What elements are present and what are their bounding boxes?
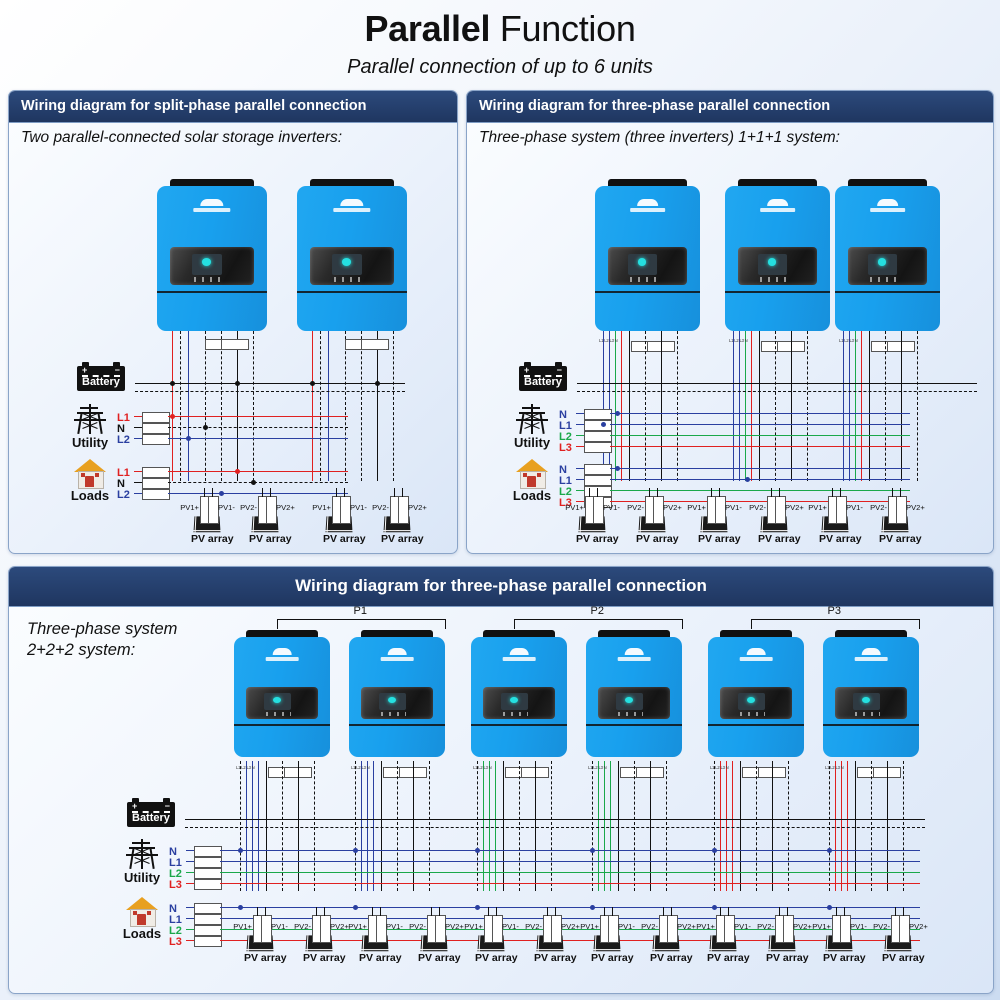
phase-bus-2-2 xyxy=(855,331,856,481)
pv-lead-right xyxy=(779,488,780,497)
dc-bus-2-0 xyxy=(869,331,870,481)
battery-polarity: +− xyxy=(132,803,170,810)
battery-bus-negative xyxy=(185,827,925,828)
battery-icon: +−Battery xyxy=(77,366,125,391)
pv-terminal-label-left: PV2- xyxy=(748,922,774,931)
utility-tower-icon xyxy=(515,404,549,434)
loads-terminal-lead xyxy=(134,493,142,494)
utility-N-junction-3 xyxy=(590,848,595,853)
inverter-seam xyxy=(823,724,919,726)
pv-lead-left xyxy=(336,488,337,497)
pv-array-label: PV array xyxy=(381,533,413,545)
phase-bus-0-2 xyxy=(615,331,616,481)
brand-wordmark xyxy=(333,208,370,212)
bus-line-1 xyxy=(180,331,181,481)
utility-terminal-out xyxy=(220,883,920,884)
loads-terminal-lead xyxy=(576,501,584,502)
utility-terminal-breaker[interactable] xyxy=(584,431,612,442)
utility-N-junction-1 xyxy=(353,848,358,853)
utility-terminal-lead xyxy=(134,427,142,428)
brand-wordmark xyxy=(503,657,536,661)
inverter-unit-1[interactable] xyxy=(234,637,330,757)
house-icon xyxy=(74,459,106,487)
battery-minus: − xyxy=(115,367,120,374)
inverter-port-label: L1 L2 L3 N xyxy=(729,338,748,343)
utility-terminal-breaker[interactable] xyxy=(194,879,222,890)
utility-L2-junction xyxy=(186,436,191,441)
sun-logo-icon xyxy=(624,648,644,655)
panel-three-phase-222: Wiring diagram for three-phase parallel … xyxy=(8,566,994,994)
inverter-lcd-display[interactable] xyxy=(246,687,319,718)
loads-icon: Loads xyxy=(509,459,555,503)
lcd-buttons[interactable] xyxy=(381,712,406,716)
inverter-seam xyxy=(157,291,267,293)
pv-terminal-label-left: PV1+ xyxy=(573,922,599,931)
pv-terminal-label-left: PV1+ xyxy=(457,922,483,931)
utility-terminal-breaker[interactable] xyxy=(584,442,612,453)
battery-polarity: +− xyxy=(82,367,120,374)
battery-label: Battery xyxy=(524,377,562,389)
utility-terminal-breaker[interactable] xyxy=(142,434,170,445)
brand-wordmark xyxy=(630,208,666,212)
ac-breaker[interactable] xyxy=(221,339,249,350)
loads-terminal-out xyxy=(168,471,348,472)
pv-terminal-label-left: PV1+ xyxy=(341,922,367,931)
pv-lead-right xyxy=(844,907,845,916)
loads-N-junction-4 xyxy=(712,905,717,910)
pv-lead-left xyxy=(372,907,373,916)
loads-terminal-out xyxy=(220,907,920,908)
utility-terminal-out xyxy=(220,872,920,873)
brand-logo xyxy=(503,648,536,661)
utility-terminal-breaker[interactable] xyxy=(194,846,222,857)
battery-terminal-negative xyxy=(163,798,170,802)
loads-terminal-breaker[interactable] xyxy=(142,467,170,478)
inverter-lcd-display[interactable] xyxy=(361,687,434,718)
group-label: P3 xyxy=(828,605,841,617)
inverter-unit-1[interactable] xyxy=(595,186,700,331)
utility-label: Utility xyxy=(119,870,165,885)
battery-bus-positive xyxy=(185,819,925,820)
utility-terminal-label-L3: L3 xyxy=(559,442,572,454)
pv-lead-left xyxy=(394,488,395,497)
loads-terminal-out xyxy=(168,482,348,483)
utility-icon: Utility xyxy=(67,404,113,450)
loads-N-junction-3 xyxy=(590,905,595,910)
utility-terminal-lead xyxy=(186,861,194,862)
pv-lead-left xyxy=(262,488,263,497)
battery-bus-negative xyxy=(135,391,405,392)
loads-label: Loads xyxy=(67,488,113,503)
page-title: Parallel Function xyxy=(0,8,1000,50)
pv-lead-right xyxy=(903,907,904,916)
inverter-seam xyxy=(471,724,567,726)
pv-terminal-label-left: PV2- xyxy=(363,503,389,512)
sun-logo-icon xyxy=(746,648,766,655)
dc-bus-1-1 xyxy=(775,331,776,481)
inverter-port-label: L1 L2 L3 N xyxy=(473,765,492,770)
lcd-buttons[interactable] xyxy=(630,277,657,282)
pv-terminal-label-left: PV1+ xyxy=(805,922,831,931)
pv-lead-left xyxy=(547,907,548,916)
dc-bus-0-2 xyxy=(661,331,662,481)
pv-terminal-label-left: PV2- xyxy=(400,922,426,931)
sun-logo-icon xyxy=(201,199,223,206)
group-label: P2 xyxy=(591,605,604,617)
lcd-screen xyxy=(853,693,879,710)
sun-logo-icon xyxy=(509,648,529,655)
inverter-seam xyxy=(234,724,330,726)
loads-terminal-breaker[interactable] xyxy=(142,489,170,500)
battery-plus: + xyxy=(82,367,87,374)
utility-N-junction xyxy=(615,411,620,416)
brand-wordmark xyxy=(381,657,414,661)
phase-bus-2-0 xyxy=(843,331,844,481)
utility-terminal-label-L3: L3 xyxy=(169,879,182,891)
lcd-buttons[interactable] xyxy=(618,712,643,716)
utility-N-junction-0 xyxy=(238,848,243,853)
utility-N-junction-2 xyxy=(475,848,480,853)
battery-junction-2 xyxy=(310,381,315,386)
utility-terminal-breaker[interactable] xyxy=(584,420,612,431)
pv-lead-left xyxy=(316,907,317,916)
loads-terminal-lead xyxy=(186,918,194,919)
pv-lead-right xyxy=(270,488,271,497)
bus-line-12 xyxy=(377,331,378,481)
bus-line-7 xyxy=(312,331,313,481)
pv-lead-right xyxy=(719,488,720,497)
loads-label: Loads xyxy=(119,926,165,941)
pv-lead-left xyxy=(832,488,833,497)
pv-lead-left xyxy=(257,907,258,916)
utility-icon: Utility xyxy=(119,839,165,885)
loads-terminal-out xyxy=(168,493,348,494)
utility-terminal-out xyxy=(220,850,920,851)
pv-terminal-label-left: PV1+ xyxy=(801,503,827,512)
sun-logo-icon xyxy=(637,199,658,206)
inverter-lcd-display[interactable] xyxy=(738,247,818,285)
pv-lead-right xyxy=(344,488,345,497)
phase-bus-1-2 xyxy=(745,331,746,481)
battery-polarity: +− xyxy=(524,367,562,374)
utility-terminal-breaker[interactable] xyxy=(194,857,222,868)
pv-lead-right xyxy=(402,488,403,497)
inverter-port-label: L1 L2 L3 N xyxy=(351,765,370,770)
lcd-screen xyxy=(501,693,527,710)
pv-array-label: PV array xyxy=(303,952,335,964)
loads-terminal-lead xyxy=(186,907,194,908)
pv-lead-left xyxy=(779,907,780,916)
pv-array-label: PV array xyxy=(879,533,911,545)
brand-logo xyxy=(630,199,666,212)
pv-terminal-label-left: PV2- xyxy=(516,922,542,931)
loads-N-junction-5 xyxy=(827,905,832,910)
utility-terminal-out xyxy=(610,413,910,414)
utility-terminal-breaker[interactable] xyxy=(142,412,170,423)
lcd-screen xyxy=(616,693,642,710)
pv-lead-right xyxy=(265,907,266,916)
utility-label: Utility xyxy=(67,435,113,450)
house-icon xyxy=(126,897,158,925)
loads-icon: Loads xyxy=(67,459,113,503)
house-window-right xyxy=(537,473,541,477)
loads-terminal-breaker[interactable] xyxy=(142,478,170,489)
brand-wordmark xyxy=(193,208,230,212)
lcd-screen xyxy=(738,693,764,710)
pv-array-label: PV array xyxy=(636,533,668,545)
inverter-unit-6[interactable] xyxy=(823,637,919,757)
utility-terminal-lead xyxy=(576,435,584,436)
brand-wordmark xyxy=(618,657,651,661)
pv-array-label: PV array xyxy=(707,952,739,964)
page-title-rest: Function xyxy=(490,8,635,49)
lcd-screen xyxy=(628,254,657,275)
panel-three-phase-111: Wiring diagram for three-phase parallel … xyxy=(466,90,994,554)
pv-lead-right xyxy=(555,907,556,916)
brand-logo xyxy=(760,199,796,212)
loads-terminal-out xyxy=(610,490,910,491)
pv-lead-right xyxy=(597,488,598,497)
lcd-screen xyxy=(332,254,362,275)
brand-logo xyxy=(870,199,906,212)
utility-N-junction xyxy=(203,425,208,430)
utility-N-junction-5 xyxy=(827,848,832,853)
dc-bus-1-2 xyxy=(791,331,792,481)
phase-bus-1-3 xyxy=(751,331,752,481)
inverter-lcd-display[interactable] xyxy=(835,687,908,718)
loads-terminal-breaker[interactable] xyxy=(194,936,222,947)
pv-lead-left xyxy=(895,907,896,916)
house-window-right xyxy=(147,911,151,915)
pv-terminal-label-left: PV2- xyxy=(231,503,257,512)
utility-terminal-breaker[interactable] xyxy=(194,868,222,879)
lcd-buttons[interactable] xyxy=(194,277,222,282)
inverter-lcd-display[interactable] xyxy=(310,247,394,285)
lcd-buttons[interactable] xyxy=(740,712,765,716)
battery-icon: +−Battery xyxy=(127,802,175,827)
pv-terminal-label-right: PV2+ xyxy=(408,503,427,512)
inverter-seam xyxy=(297,291,407,293)
sun-logo-icon xyxy=(387,648,407,655)
battery-junction-0 xyxy=(170,381,175,386)
house-door xyxy=(527,476,536,487)
pv-lead-right xyxy=(900,488,901,497)
dc-bus-0-3 xyxy=(677,331,678,481)
inverter-lcd-display[interactable] xyxy=(483,687,556,718)
pv-lead-left xyxy=(663,907,664,916)
inverter-port-label: L1 L2 L3 N xyxy=(839,338,858,343)
house-door xyxy=(137,914,146,925)
pv-terminal-label-right: PV2+ xyxy=(276,503,295,512)
ac-breaker[interactable] xyxy=(361,339,389,350)
page-title-bold: Parallel xyxy=(364,8,490,49)
pv-lead-left xyxy=(604,907,605,916)
battery-terminal-negative xyxy=(113,362,120,366)
loads-label: Loads xyxy=(509,488,555,503)
lcd-screen xyxy=(264,693,290,710)
battery-icon: +−Battery xyxy=(519,366,567,391)
utility-terminal-breaker[interactable] xyxy=(142,423,170,434)
bus-line-10 xyxy=(345,331,346,481)
battery-minus: − xyxy=(557,367,562,374)
pv-terminal-label-left: PV1+ xyxy=(558,503,584,512)
loads-terminal-label-L2: L2 xyxy=(117,489,130,501)
brand-logo xyxy=(193,199,230,212)
loads-terminal-breaker[interactable] xyxy=(194,914,222,925)
pv-lead-right xyxy=(380,907,381,916)
brand-wordmark xyxy=(760,208,796,212)
sun-logo-icon xyxy=(341,199,363,206)
lcd-buttons[interactable] xyxy=(855,712,880,716)
inverter-port-label: L1 L2 L3 N xyxy=(710,765,729,770)
pv-lead-left xyxy=(488,907,489,916)
pv-lead-right xyxy=(324,907,325,916)
pv-array-label: PV array xyxy=(191,533,223,545)
phase-bus-1-1 xyxy=(739,331,740,481)
loads-L1-junction xyxy=(235,469,240,474)
lcd-screen xyxy=(379,693,405,710)
pv-terminal-label-left: PV2- xyxy=(864,922,890,931)
battery-terminal-positive xyxy=(132,798,139,802)
inverter-lcd-display[interactable] xyxy=(848,247,928,285)
battery-junction-1 xyxy=(235,381,240,386)
pv-lead-left xyxy=(431,907,432,916)
battery-terminal-negative xyxy=(555,362,562,366)
utility-N-junction-4 xyxy=(712,848,717,853)
brand-logo xyxy=(855,648,888,661)
inverter-unit-2[interactable] xyxy=(725,186,830,331)
inverter-lcd-display[interactable] xyxy=(720,687,793,718)
pv-array-label: PV array xyxy=(823,952,855,964)
pv-array-label: PV array xyxy=(534,952,566,964)
bus-line-11 xyxy=(361,331,362,481)
inverter-unit-2[interactable] xyxy=(349,637,445,757)
bus-line-4 xyxy=(221,331,222,481)
brand-logo xyxy=(618,648,651,661)
bus-line-0 xyxy=(172,331,173,481)
loads-terminal-lead xyxy=(134,471,142,472)
inverter-lcd-display[interactable] xyxy=(598,687,671,718)
brand-logo xyxy=(740,648,773,661)
lcd-screen xyxy=(868,254,897,275)
utility-terminal-out xyxy=(610,435,910,436)
pv-array-label: PV array xyxy=(591,952,623,964)
pv-lead-right xyxy=(787,907,788,916)
dc-bus-2-2 xyxy=(901,331,902,481)
sun-logo-icon xyxy=(877,199,898,206)
battery-bus-negative xyxy=(577,391,977,392)
pv-terminal-label-left: PV2- xyxy=(740,503,766,512)
battery-label: Battery xyxy=(82,377,120,389)
pv-terminal-label-left: PV2- xyxy=(632,922,658,931)
battery-plus: + xyxy=(132,803,137,810)
phase-bus-0-0 xyxy=(603,331,604,481)
sun-logo-icon xyxy=(272,648,292,655)
pv-terminal-label-left: PV1+ xyxy=(305,503,331,512)
lcd-buttons[interactable] xyxy=(503,712,528,716)
bus-line-2 xyxy=(188,331,189,481)
loads-icon: Loads xyxy=(119,897,165,941)
utility-terminal-out xyxy=(610,446,910,447)
inverter-unit-3[interactable] xyxy=(835,186,940,331)
group-bracket-2 xyxy=(514,619,683,629)
inverter-port-label: L1 L2 L3 N xyxy=(588,765,607,770)
utility-terminal-out xyxy=(168,438,348,439)
pv-array-label: PV array xyxy=(819,533,851,545)
pv-terminal-label-left: PV1+ xyxy=(173,503,199,512)
inverter-unit-2[interactable] xyxy=(297,186,407,331)
pv-lead-right xyxy=(840,488,841,497)
loads-terminal-lead xyxy=(186,940,194,941)
pv-lead-right xyxy=(612,907,613,916)
pv-terminal-label-left: PV1+ xyxy=(680,503,706,512)
inverter-lcd-display[interactable] xyxy=(608,247,688,285)
inverter-unit-1[interactable] xyxy=(157,186,267,331)
lcd-buttons[interactable] xyxy=(870,277,897,282)
lcd-buttons[interactable] xyxy=(760,277,787,282)
bus-line-9 xyxy=(328,331,329,481)
battery-minus: − xyxy=(165,803,170,810)
utility-icon: Utility xyxy=(509,404,555,450)
loads-terminal-lead xyxy=(576,490,584,491)
lcd-screen xyxy=(758,254,787,275)
inverter-unit-5[interactable] xyxy=(708,637,804,757)
loads-terminal-breaker[interactable] xyxy=(584,475,612,486)
group-bracket-1 xyxy=(277,619,446,629)
pv-array-label: PV array xyxy=(698,533,730,545)
pv-lead-left xyxy=(204,488,205,497)
utility-L1-junction xyxy=(601,422,606,427)
utility-terminal-lead xyxy=(186,883,194,884)
dc-bus-1-3 xyxy=(807,331,808,481)
pv-array-label: PV array xyxy=(576,533,608,545)
pv-terminal-label-right: PV2+ xyxy=(906,503,925,512)
dc-bus-0-1 xyxy=(645,331,646,481)
pv-lead-right xyxy=(728,907,729,916)
inverter-seam xyxy=(586,724,682,726)
utility-terminal-out xyxy=(168,427,348,428)
utility-terminal-breaker[interactable] xyxy=(584,409,612,420)
loads-terminal-breaker[interactable] xyxy=(584,464,612,475)
loads-L1-junction xyxy=(745,477,750,482)
brand-logo xyxy=(381,648,414,661)
house-window-right xyxy=(95,473,99,477)
utility-terminal-out xyxy=(220,861,920,862)
loads-terminal-lead xyxy=(576,479,584,480)
battery-terminal-positive xyxy=(524,362,531,366)
inverter-unit-4[interactable] xyxy=(586,637,682,757)
pv-array-label: PV array xyxy=(249,533,281,545)
phase-bus-2-3 xyxy=(861,331,862,481)
brand-logo xyxy=(333,199,370,212)
inverter-unit-3[interactable] xyxy=(471,637,567,757)
inverter-lcd-display[interactable] xyxy=(170,247,254,285)
sun-logo-icon xyxy=(767,199,788,206)
lcd-buttons[interactable] xyxy=(334,277,362,282)
utility-terminal-lead xyxy=(134,416,142,417)
loads-terminal-breaker[interactable] xyxy=(194,925,222,936)
phase-bus-2-1 xyxy=(849,331,850,481)
pv-array-label: PV array xyxy=(758,533,790,545)
battery-label: Battery xyxy=(132,813,170,825)
lcd-buttons[interactable] xyxy=(266,712,291,716)
pv-lead-right xyxy=(657,488,658,497)
loads-terminal-breaker[interactable] xyxy=(194,903,222,914)
pv-lead-right xyxy=(212,488,213,497)
inverter-port-label: L1 L2 L3 N xyxy=(599,338,618,343)
utility-terminal-lead xyxy=(186,872,194,873)
inverter-seam xyxy=(595,291,700,293)
